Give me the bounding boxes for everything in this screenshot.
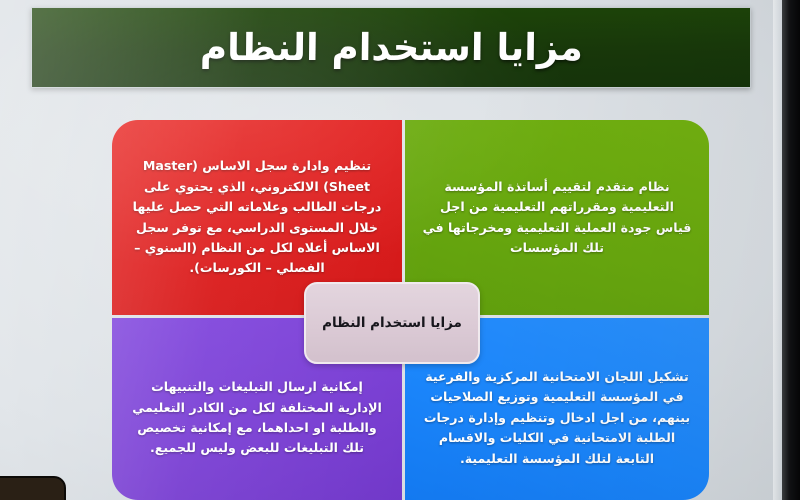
slide-title-banner: مزايا استخدام النظام — [31, 7, 751, 88]
quadrant-purple-text: إمكانية ارسال التبليغات والتنبيهات الإدا… — [112, 377, 402, 459]
quadrant-red-text: تنظيم وادارة سجل الاساس (Master Sheet) ا… — [112, 156, 402, 278]
center-hub-label: مزايا استخدام النظام — [322, 315, 462, 331]
center-hub-box[interactable]: مزايا استخدام النظام — [304, 282, 480, 364]
quadrant-blue-text: تشكيل اللجان الامتحانية المركزية والفرعي… — [405, 367, 709, 469]
slide-title: مزايا استخدام النظام — [199, 26, 582, 69]
presentation-slide-photo: مزايا استخدام النظام تنظيم وادارة سجل ال… — [0, 0, 800, 500]
screen-right-border — [773, 0, 782, 500]
quadrant-green-text: نظام متقدم لتقييم أساتذة المؤسسة التعليم… — [405, 177, 709, 259]
bottom-left-foreground-object — [0, 476, 66, 500]
screen-right-dark-edge — [782, 0, 800, 500]
